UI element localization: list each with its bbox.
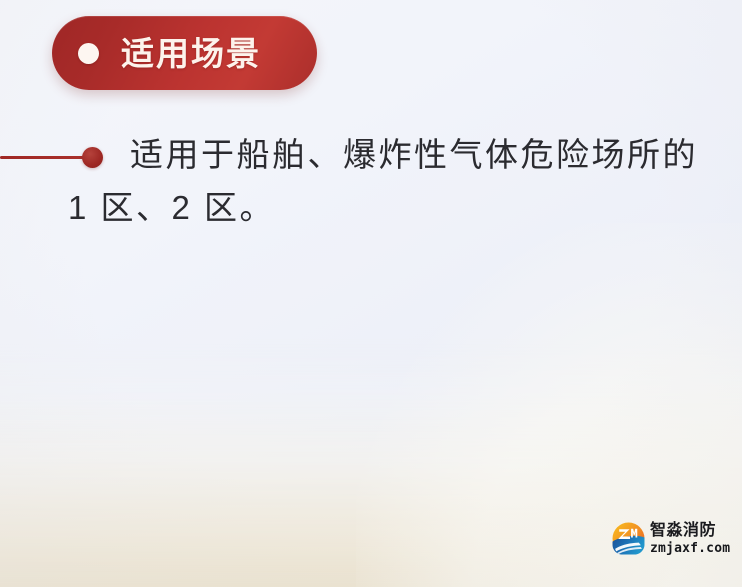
dot-icon <box>78 43 99 64</box>
watermark-website: zmjaxf.com <box>650 542 730 555</box>
slide-canvas: 适用场景 适用于船舶、爆炸性气体危险场所的 1 区、2 区。 <box>0 0 742 587</box>
watermark-text-block: 智淼消防 zmjaxf.com <box>650 523 730 555</box>
watermark-logo: 智淼消防 zmjaxf.com <box>612 522 730 555</box>
section-heading-badge: 适用场景 <box>52 16 317 90</box>
watermark-company-name: 智淼消防 <box>650 523 730 539</box>
zmjaxf-logo-icon <box>612 522 645 555</box>
section-heading-label: 适用场景 <box>121 37 261 70</box>
body-paragraph: 适用于船舶、爆炸性气体危险场所的 1 区、2 区。 <box>68 128 708 235</box>
